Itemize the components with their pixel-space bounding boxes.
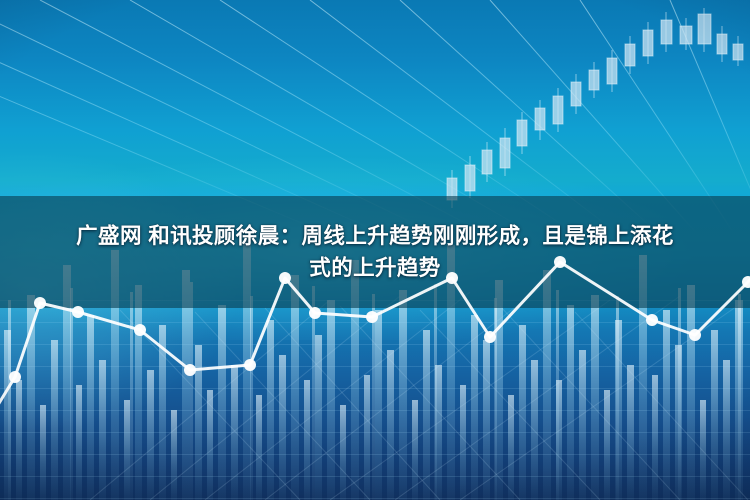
headline: 广盛网 和讯投顾徐晨：周线上升趋势刚刚形成，且是锦上添花 式的上升趋势 <box>0 196 750 308</box>
banner-image: 广盛网 和讯投顾徐晨：周线上升趋势刚刚形成，且是锦上添花 式的上升趋势 <box>0 0 750 500</box>
headline-line-1: 广盛网 和讯投顾徐晨：周线上升趋势刚刚形成，且是锦上添花 <box>76 221 674 251</box>
headline-line-2: 式的上升趋势 <box>309 253 440 283</box>
